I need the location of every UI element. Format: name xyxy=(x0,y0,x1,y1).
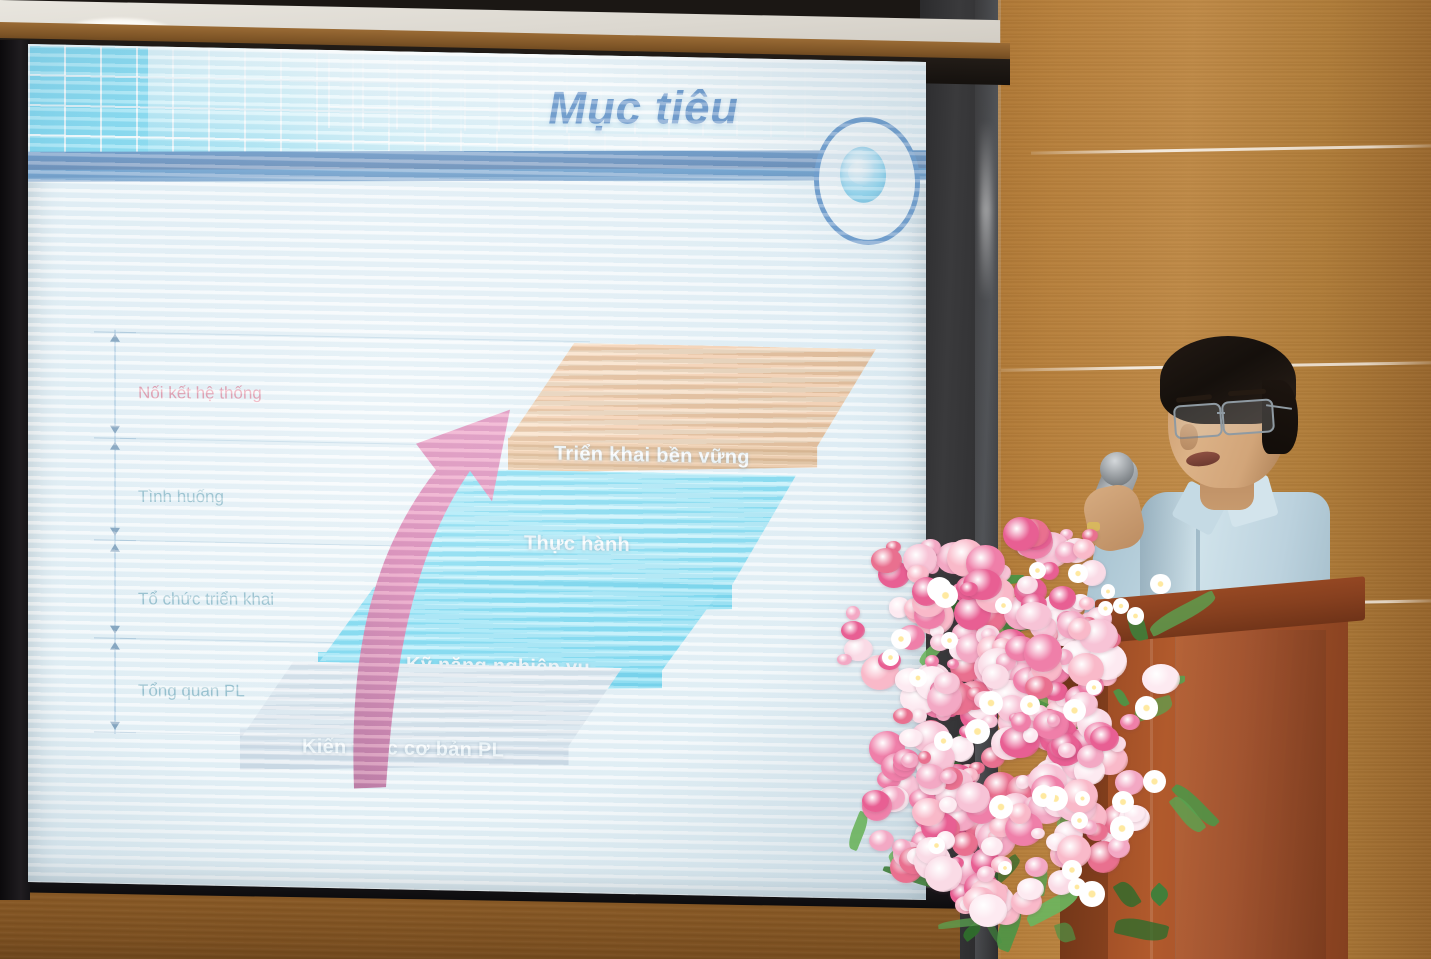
flower-blossom xyxy=(837,654,851,665)
step-trien-khai-ben-vung: Triển khai bền vững xyxy=(508,342,876,479)
flower-blossom xyxy=(1011,712,1032,732)
white-daisy xyxy=(891,629,911,649)
flower-blossom xyxy=(1031,828,1045,839)
flower-blossom xyxy=(1049,586,1077,610)
step-label: Triển khai bền vững xyxy=(554,443,750,470)
axis-arrow-up xyxy=(110,334,120,342)
axis-arrow-down xyxy=(110,528,120,536)
flower-blossom xyxy=(862,790,889,812)
flower-blossom xyxy=(925,856,963,891)
flower-blossom xyxy=(1073,539,1095,559)
growth-arrow-icon xyxy=(324,372,544,796)
flower-blossom xyxy=(939,797,957,813)
flower-arrangement xyxy=(852,500,1202,940)
white-daisy xyxy=(1143,770,1166,793)
flower-blossom xyxy=(1079,597,1095,610)
flower-blossom xyxy=(940,770,957,784)
header-blue-bar-secondary xyxy=(28,168,926,182)
white-daisy xyxy=(1127,607,1145,625)
white-daisy xyxy=(1062,860,1081,879)
axis-label-tinh-huong: Tình huống xyxy=(138,487,224,507)
white-daisy xyxy=(1086,680,1101,695)
flower-blossom xyxy=(1068,618,1091,640)
white-daisy xyxy=(979,691,1003,715)
flower-blossom xyxy=(1090,726,1119,751)
guide-line xyxy=(120,332,590,342)
flower-blossom xyxy=(1058,743,1075,758)
flower-blossom xyxy=(918,751,931,764)
white-daisy xyxy=(995,597,1012,614)
white-daisy xyxy=(1101,584,1115,598)
white-daisy xyxy=(1068,564,1088,584)
axis-arrow-down xyxy=(110,626,120,634)
flower-blossom xyxy=(1142,664,1180,694)
screenshot-root: Mục tiêu Nối kết hệ thống Tình huống Tổ … xyxy=(0,0,1431,959)
flower-blossom xyxy=(1003,517,1039,551)
white-daisy xyxy=(1075,791,1090,806)
axis-arrow-down xyxy=(110,722,120,730)
white-daisy xyxy=(1079,881,1105,907)
flower-blossom xyxy=(947,659,959,669)
white-daisy xyxy=(1098,601,1113,616)
globe-icon xyxy=(839,147,886,203)
glasses-bridge xyxy=(1217,412,1225,414)
slide-title: Mục tiêu xyxy=(547,80,739,134)
white-daisy xyxy=(965,719,990,744)
white-daisy xyxy=(934,731,953,750)
white-daisy xyxy=(1071,812,1088,829)
flower-blossom xyxy=(1024,634,1062,672)
flower-blossom xyxy=(869,830,894,851)
axis-label-to-chuc-trien-khai: Tổ chức triển khai xyxy=(138,589,274,609)
flower-blossom xyxy=(1016,602,1052,630)
leaf xyxy=(1147,883,1171,907)
screen-frame-left xyxy=(0,40,30,900)
flower-blossom xyxy=(846,606,860,620)
axis-arrow-up xyxy=(110,544,120,552)
flower-blossom xyxy=(871,548,902,572)
flower-blossom xyxy=(1017,878,1044,899)
white-daisy xyxy=(1029,562,1046,579)
pillar-highlight xyxy=(980,120,992,300)
axis-label-noi-ket-he-thong: Nối kết hệ thống xyxy=(138,383,262,403)
flower-blossom xyxy=(934,672,959,694)
flower-blossom xyxy=(841,621,865,640)
white-daisy xyxy=(998,861,1012,875)
white-daisy xyxy=(1150,574,1171,595)
white-daisy xyxy=(1135,696,1158,719)
projection-screen: Mục tiêu Nối kết hệ thống Tình huống Tổ … xyxy=(28,44,926,900)
wall-seam xyxy=(1031,144,1431,154)
white-daisy xyxy=(1110,816,1135,841)
axis-arrow-down xyxy=(110,426,120,434)
speaker-nose xyxy=(1180,424,1198,450)
leaf xyxy=(1113,687,1130,708)
white-daisy xyxy=(989,795,1013,819)
flower-blossom xyxy=(969,894,1007,927)
axis-arrow-up xyxy=(110,642,120,650)
white-daisy xyxy=(928,837,945,854)
flower-blossom xyxy=(893,708,913,724)
flower-blossom xyxy=(981,837,1003,856)
leaf xyxy=(1112,878,1142,911)
white-daisy xyxy=(1112,791,1134,813)
leaf xyxy=(1114,914,1170,944)
flower-blossom xyxy=(1025,857,1048,876)
white-daisy xyxy=(1032,785,1054,807)
flower-blossom xyxy=(956,782,990,812)
axis-arrow-up xyxy=(110,442,120,450)
axis-label-tong-quan-pl: Tổng quan PL xyxy=(138,681,245,701)
flower-blossom xyxy=(977,866,996,882)
